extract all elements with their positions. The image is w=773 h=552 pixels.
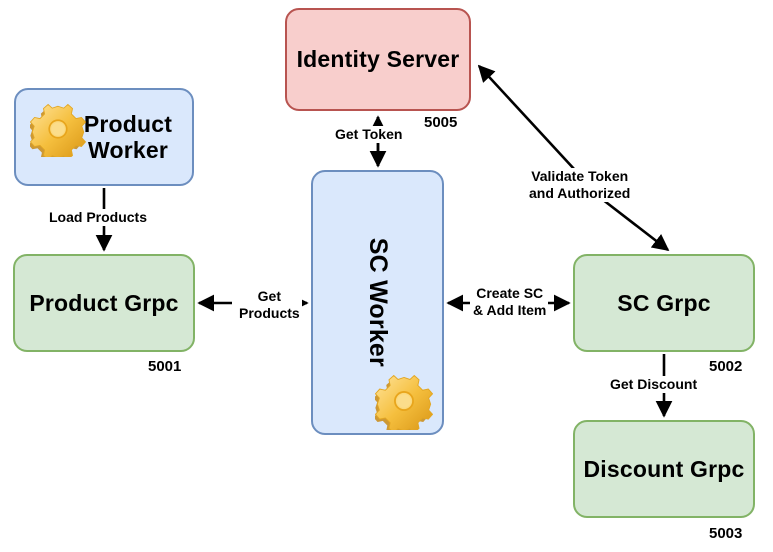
edge-label-validate-token: Validate Token and Authorized <box>527 168 632 202</box>
edge-label-get-discount: Get Discount <box>608 376 699 393</box>
edge-label-load-products: Load Products <box>47 209 149 226</box>
port-label-sc-grpc: 5002 <box>709 358 742 375</box>
node-product-worker-label: ProductWorker <box>36 111 172 164</box>
node-discount-grpc[interactable]: Discount Grpc <box>573 420 755 518</box>
edge-label-create-sc-line1: Create SC <box>476 285 543 301</box>
edge-label-validate-token-line2: and Authorized <box>529 185 630 201</box>
node-sc-worker-label: SC Worker <box>363 238 392 367</box>
node-product-grpc[interactable]: Product Grpc <box>13 254 195 352</box>
node-product-worker[interactable]: ProductWorker <box>14 88 194 186</box>
edge-validate-token <box>479 66 668 250</box>
node-product-grpc-label: Product Grpc <box>29 290 178 316</box>
node-identity-server[interactable]: Identity Server <box>285 8 471 111</box>
node-identity-server-label: Identity Server <box>297 46 460 72</box>
edge-label-create-sc: Create SC & Add Item <box>471 285 548 319</box>
edge-label-get-token: Get Token <box>333 126 404 143</box>
node-sc-worker[interactable]: SC Worker <box>311 170 444 435</box>
port-label-identity-server: 5005 <box>424 114 457 131</box>
node-discount-grpc-label: Discount Grpc <box>583 456 744 482</box>
edge-label-get-products: Get Products <box>237 288 302 322</box>
edge-label-validate-token-line1: Validate Token <box>531 168 628 184</box>
diagram-canvas: Identity Server (vertical, double headed… <box>0 0 773 552</box>
edge-label-create-sc-line2: & Add Item <box>473 302 546 318</box>
port-label-discount-grpc: 5003 <box>709 525 742 542</box>
port-label-product-grpc: 5001 <box>148 358 181 375</box>
edge-label-get-products-line1: Get <box>258 288 281 304</box>
edge-label-get-products-line2: Products <box>239 305 300 321</box>
node-sc-grpc[interactable]: SC Grpc <box>573 254 755 352</box>
node-sc-grpc-label: SC Grpc <box>617 290 710 316</box>
